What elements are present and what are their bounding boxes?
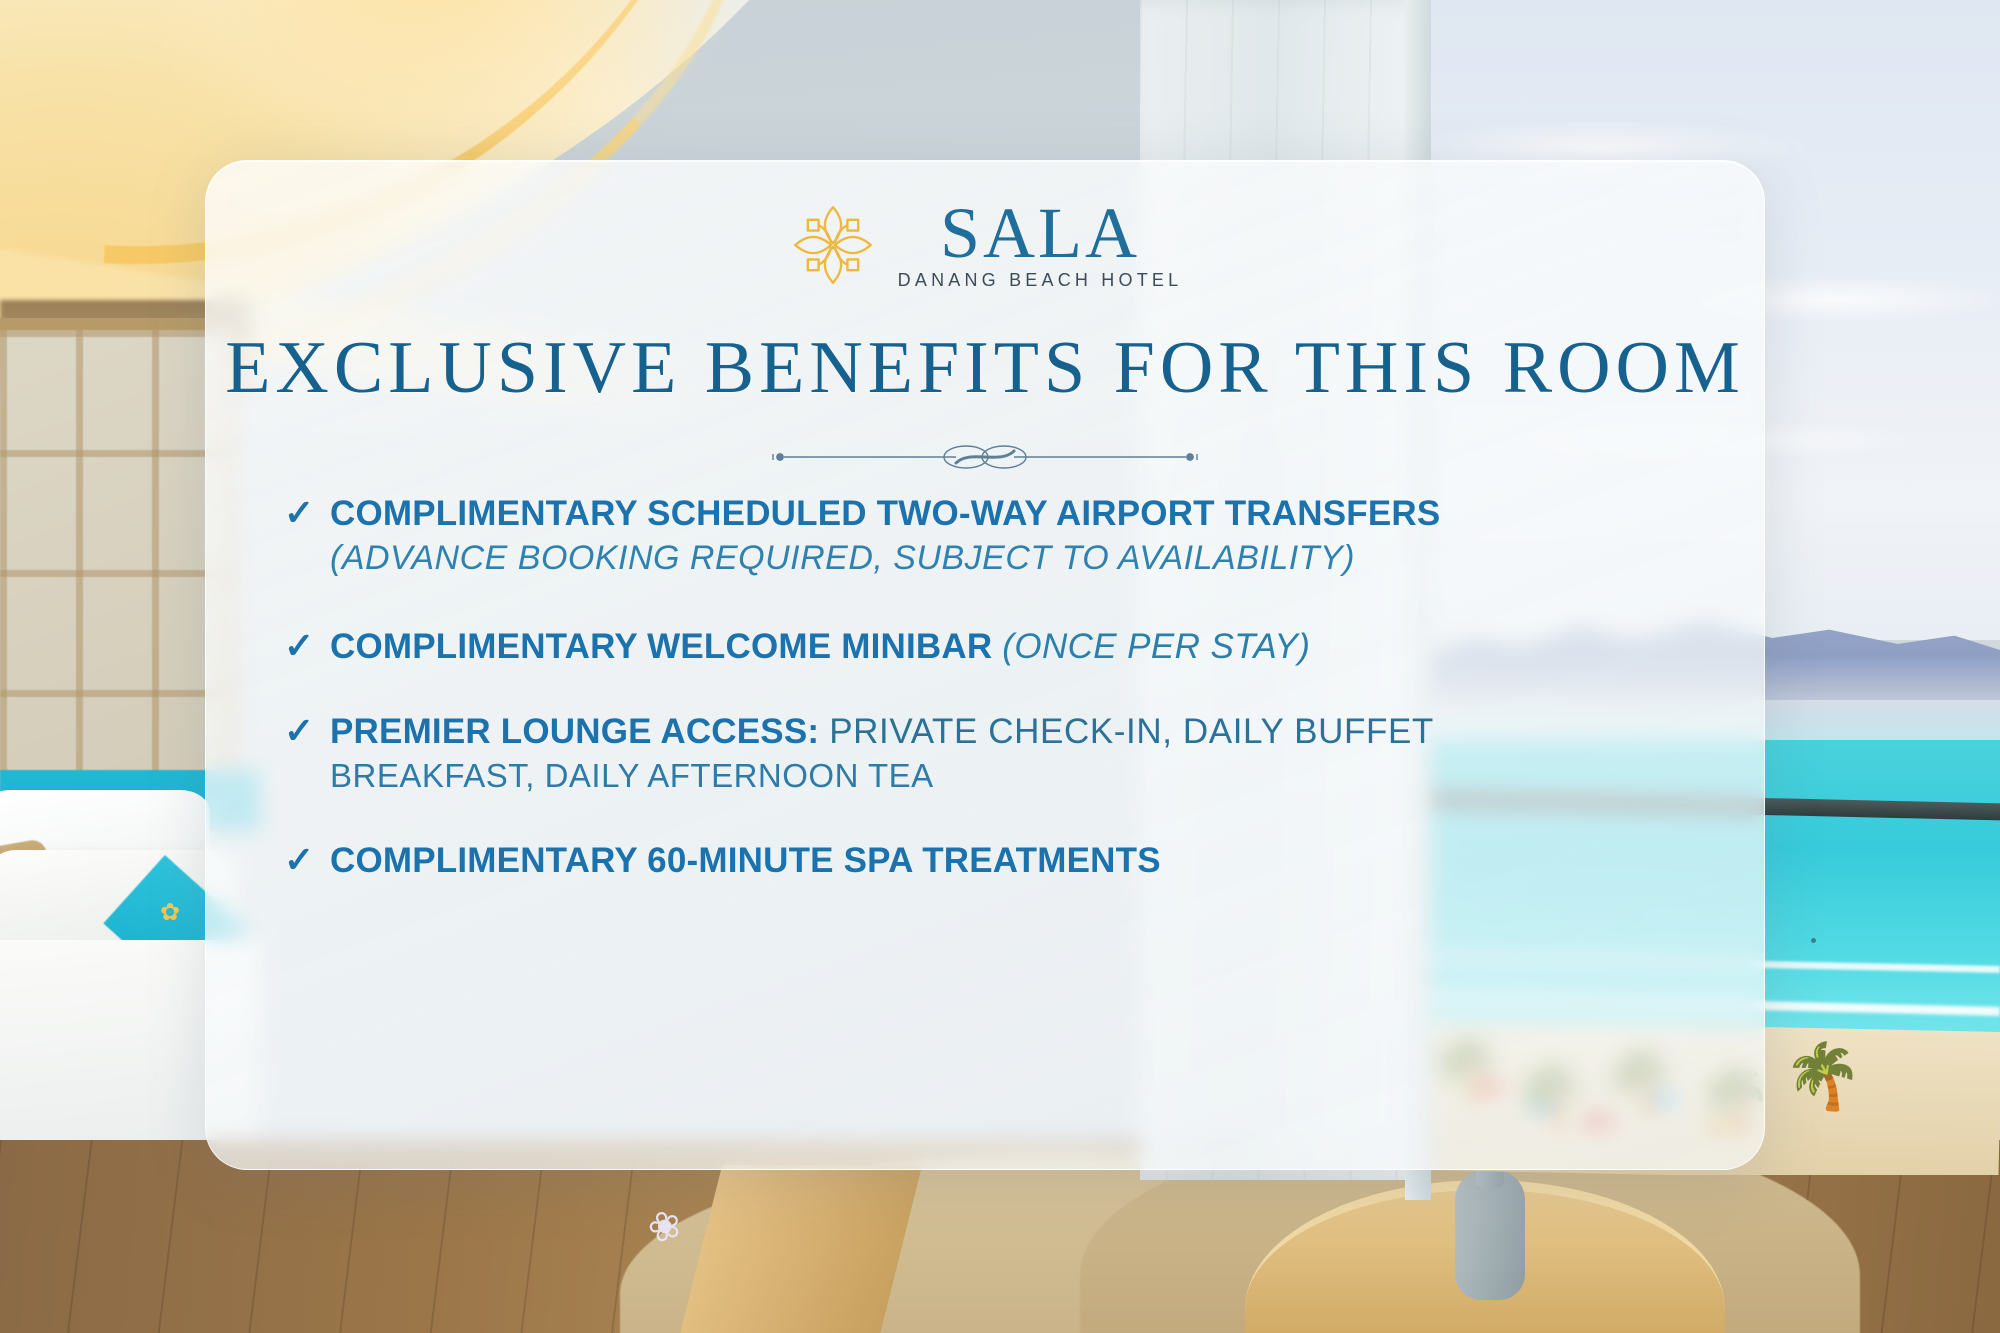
- benefits-list: ✓ COMPLIMENTARY SCHEDULED TWO-WAY AIRPOR…: [284, 491, 1704, 907]
- ornamental-divider: [206, 439, 1764, 475]
- benefit-item: ✓ COMPLIMENTARY SCHEDULED TWO-WAY AIRPOR…: [284, 491, 1704, 580]
- benefit-item: ✓ COMPLIMENTARY 60-MINUTE SPA TREATMENTS: [284, 838, 1704, 883]
- benefit-note: (ONCE PER STAY): [1002, 627, 1310, 666]
- check-icon: ✓: [284, 838, 324, 882]
- benefit-title: COMPLIMENTARY SCHEDULED TWO-WAY AIRPORT …: [330, 494, 1440, 533]
- benefit-title: PREMIER LOUNGE ACCESS:: [330, 712, 819, 751]
- swimmer-dot: [1811, 938, 1816, 943]
- brand-tagline: DANANG BEACH HOTEL: [898, 270, 1183, 291]
- benefit-item: ✓ COMPLIMENTARY WELCOME MINIBAR (ONCE PE…: [284, 624, 1704, 669]
- benefits-card: SALA DANANG BEACH HOTEL EXCLUSIVE BENEFI…: [205, 160, 1765, 1170]
- page-title: EXCLUSIVE BENEFITS FOR THIS ROOM: [206, 326, 1764, 411]
- palm-tree-icon: 🌴: [1783, 1044, 1903, 1164]
- benefit-title: COMPLIMENTARY 60-MINUTE SPA TREATMENTS: [330, 841, 1161, 880]
- benefit-detail-cont: BREAKFAST, DAILY AFTERNOON TEA: [330, 754, 1704, 798]
- benefit-note: (ADVANCE BOOKING REQUIRED, SUBJECT TO AV…: [330, 536, 1704, 580]
- brand-lockup: SALA DANANG BEACH HOTEL: [206, 199, 1764, 291]
- benefit-title: COMPLIMENTARY WELCOME MINIBAR: [330, 627, 992, 666]
- ceramic-vase: [1455, 1170, 1525, 1300]
- shoji-wall-panel: [0, 330, 240, 810]
- check-icon: ✓: [284, 624, 324, 668]
- sala-flower-emblem-icon: [788, 200, 878, 290]
- check-icon: ✓: [284, 709, 324, 753]
- brand-name: SALA: [940, 199, 1140, 267]
- cushion-logo-icon: ✿: [160, 900, 186, 926]
- benefit-detail: PRIVATE CHECK-IN, DAILY BUFFET: [829, 712, 1434, 751]
- poster-canvas: ✿ ❀: [0, 0, 2000, 1333]
- benefit-item: ✓ PREMIER LOUNGE ACCESS: PRIVATE CHECK-I…: [284, 709, 1704, 798]
- check-icon: ✓: [284, 491, 324, 535]
